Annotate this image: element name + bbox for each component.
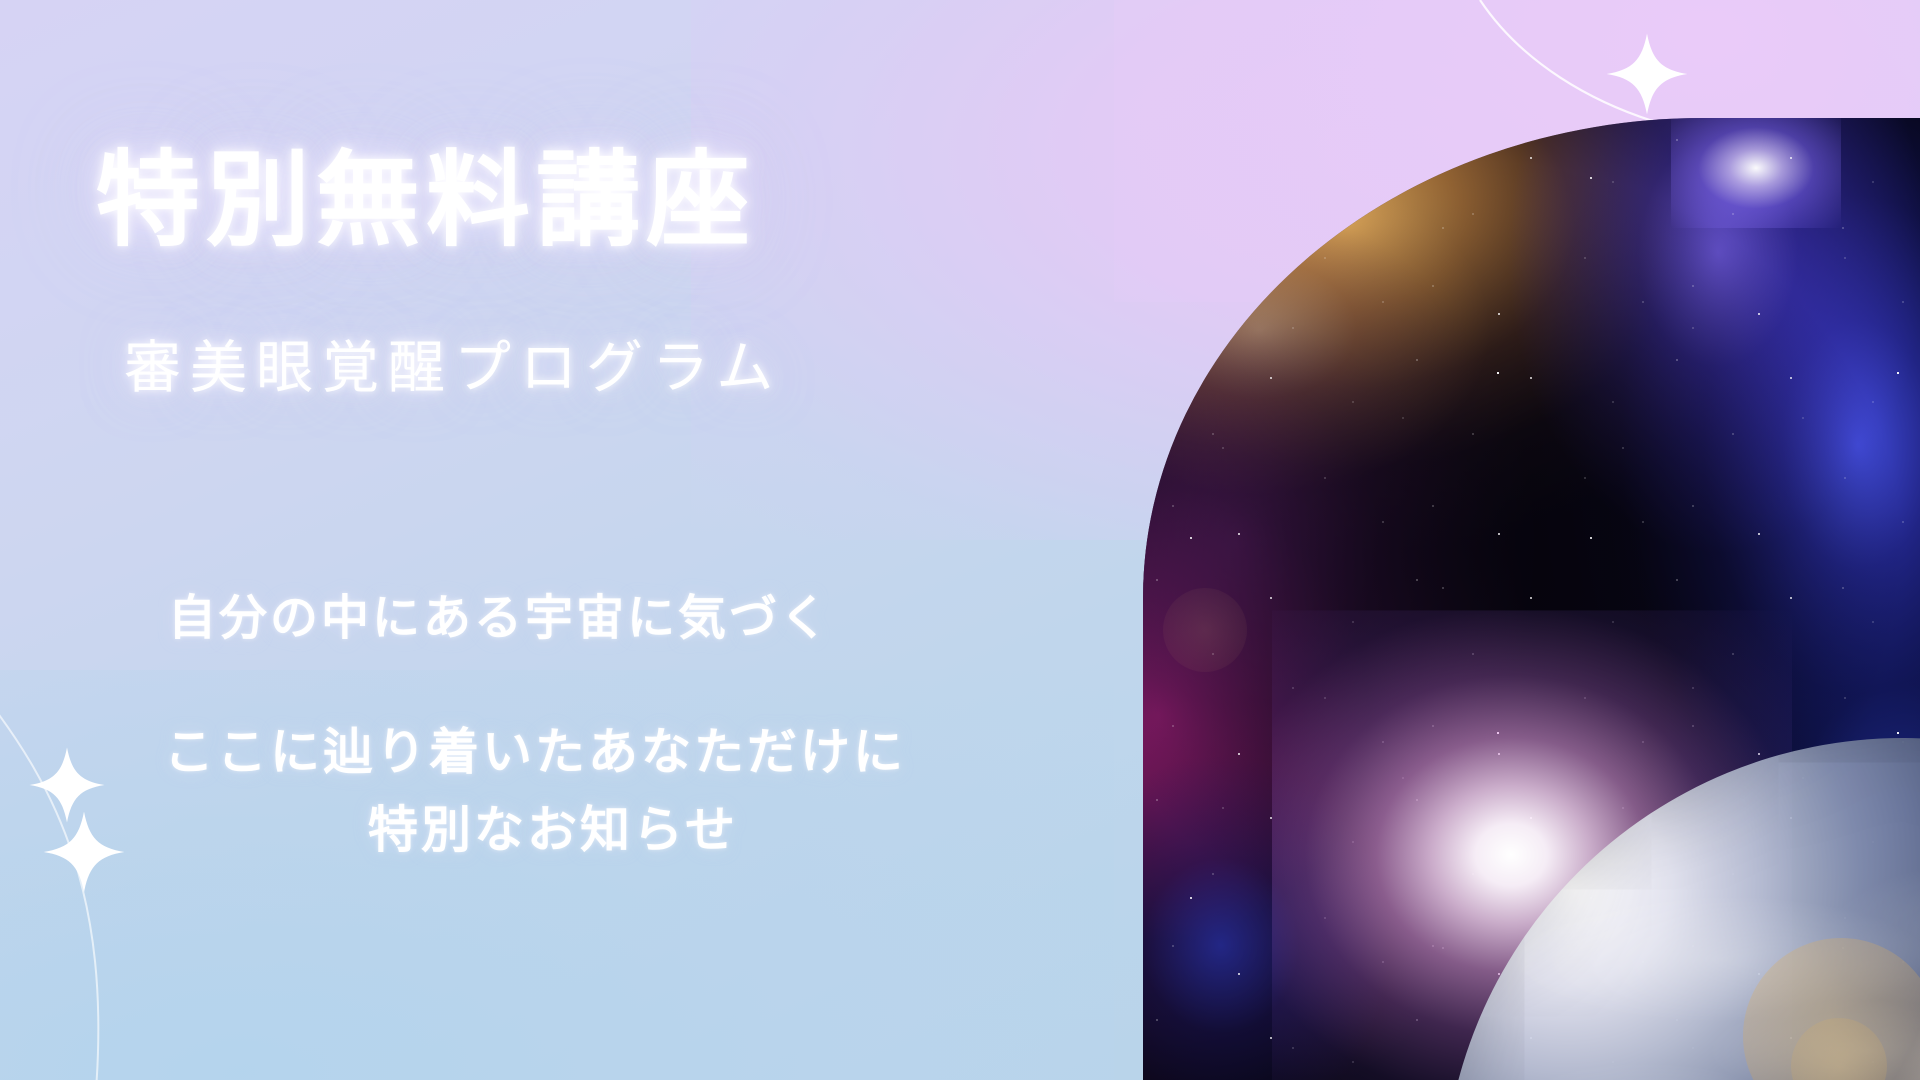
body-line-2: ここに辿り着いたあなただけに — [164, 712, 906, 784]
sparkle-top-right-icon — [1605, 28, 1689, 120]
page-title: 特別無料講座 — [96, 140, 756, 263]
body-line-3: 特別なお知らせ — [368, 790, 738, 862]
body-line-1: 自分の中にある宇宙に気づく — [168, 578, 831, 648]
space-photo-panel — [1143, 118, 1920, 1080]
slide-canvas: 特別無料講座 審美眼覚醒プログラム 自分の中にある宇宙に気づく ここに辿り着いた… — [0, 0, 1920, 1080]
hero-text-block: 特別無料講座 審美眼覚醒プログラム 自分の中にある宇宙に気づく ここに辿り着いた… — [0, 0, 1100, 1080]
page-subtitle: 審美眼覚醒プログラム — [124, 334, 782, 402]
